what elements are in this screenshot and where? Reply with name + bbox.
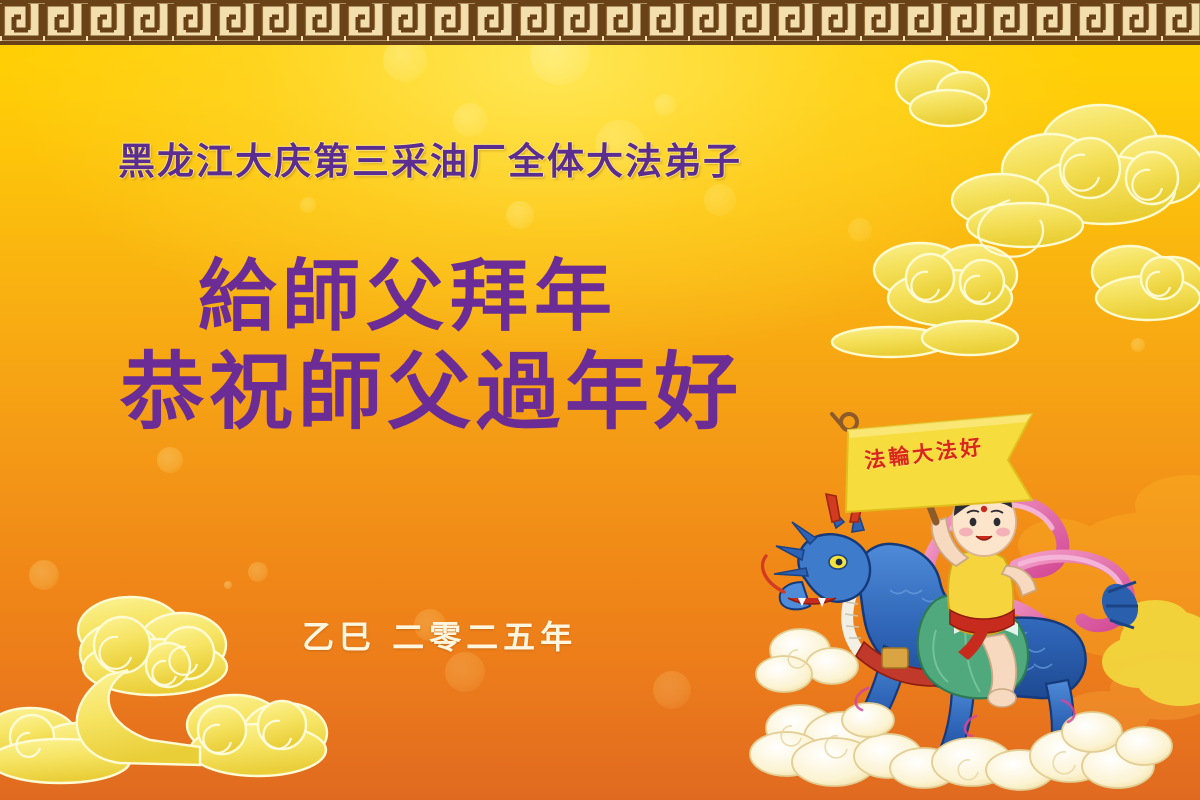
banner-flag: 法輪大法好	[826, 408, 1056, 538]
greek-key-pattern-icon	[0, 0, 1200, 41]
greek-key-border	[0, 0, 1200, 45]
auspicious-cloud-icon	[800, 50, 1200, 380]
flag-shape-icon	[826, 408, 1056, 538]
cloud-decoration-top-right	[800, 50, 1200, 380]
lunar-year-date: 乙巳 二零二五年	[302, 612, 577, 658]
cloud-decoration-bottom-left	[0, 575, 330, 800]
greeting-block: 給師父拜年 恭祝師父過年好	[0, 258, 780, 434]
page-title: 黑龙江大庆第三采油厂全体大法弟子	[118, 131, 742, 185]
greeting-line-1: 給師父拜年	[198, 258, 780, 336]
greeting-line-2: 恭祝師父過年好	[120, 350, 780, 434]
new-year-greeting-card: 黑龙江大庆第三采油厂全体大法弟子 給師父拜年 恭祝師父過年好 乙巳 二零二五年	[0, 0, 1200, 800]
auspicious-cloud-icon	[0, 575, 330, 800]
